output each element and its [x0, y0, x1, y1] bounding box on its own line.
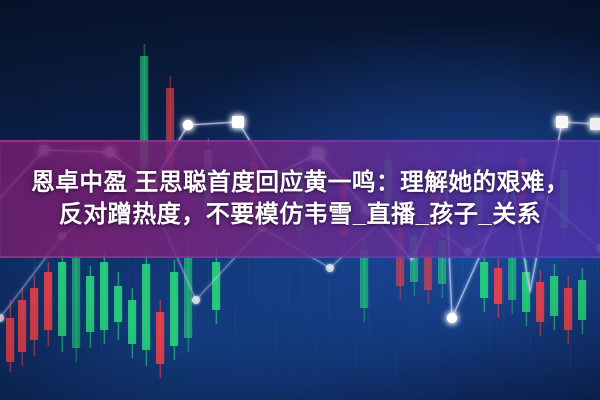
headline-text-block: 恩卓中盈 王思聪首度回应黄一鸣：理解她的艰难， 反对蹭热度，不要模仿韦雪_直播_… — [0, 140, 600, 258]
headline-line-2: 反对蹭热度，不要模仿韦雪_直播_孩子_关系 — [59, 202, 542, 228]
headline-line-1: 恩卓中盈 王思聪首度回应黄一鸣：理解她的艰难， — [31, 170, 569, 196]
banner-image: 恩卓中盈 王思聪首度回应黄一鸣：理解她的艰难， 反对蹭热度，不要模仿韦雪_直播_… — [0, 0, 600, 400]
